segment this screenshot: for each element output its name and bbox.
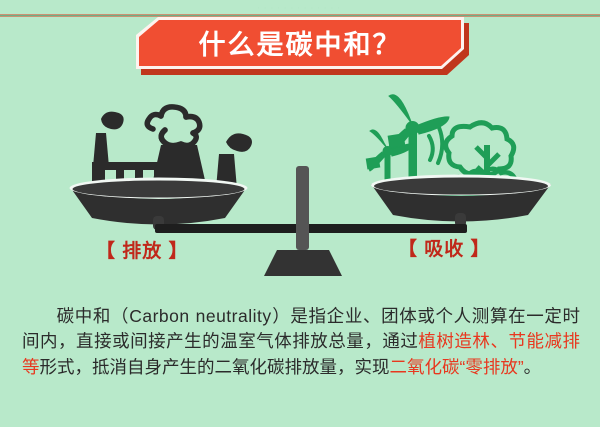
body-english-term: Carbon neutrality <box>129 306 271 326</box>
body-highlight-zero-emission: 二氧化碳“零排放” <box>390 357 524 377</box>
panel-flag-small-icon <box>366 157 379 169</box>
smoke-puff-small-icon <box>226 133 252 151</box>
smoke-puff-left-icon <box>101 112 124 130</box>
right-pan <box>371 175 551 228</box>
scale-beam <box>155 224 467 233</box>
smoke-icon <box>147 107 200 146</box>
title-banner: 什么是碳中和？ <box>136 17 464 73</box>
scale-base <box>264 250 342 276</box>
body-tail: 。 <box>524 357 542 377</box>
right-pan-label: 【 吸收 】 <box>398 234 491 261</box>
balance-scale-illustration <box>0 88 600 278</box>
factory-smokestack-icon <box>92 107 252 189</box>
left-pan <box>70 178 248 231</box>
body-middle: 形式，抵消自身产生的二氧化碳排放量，实现 <box>40 357 390 377</box>
page-title: 什么是碳中和？ <box>199 23 402 62</box>
panel-flag-icon <box>388 134 405 148</box>
scale-post <box>296 166 309 250</box>
infographic-poster: ············· 什么是碳中和？ <box>0 0 600 427</box>
body-line1-a: 碳中和（ <box>56 306 129 326</box>
title-banner-face: 什么是碳中和？ <box>139 20 461 66</box>
body-paragraph: 碳中和（Carbon neutrality）是指企业、团体或个人测算在一定时间内… <box>22 304 580 381</box>
left-pan-label: 【 排放 】 <box>96 236 189 263</box>
